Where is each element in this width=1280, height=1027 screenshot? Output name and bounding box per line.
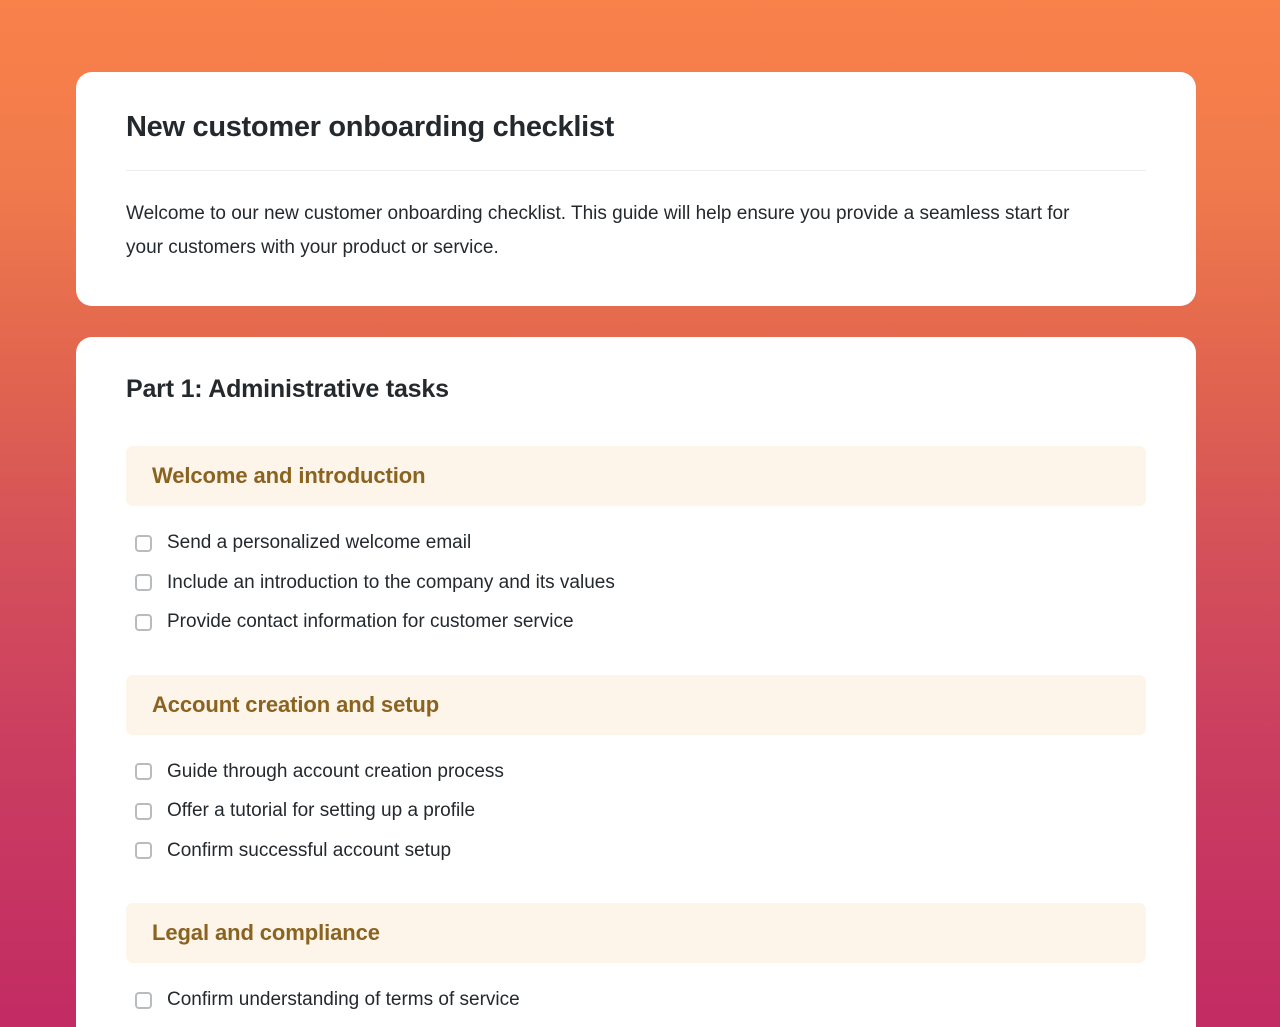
checklist-section-welcome-and-introduction: Welcome and introduction Send a personal… bbox=[126, 446, 1146, 643]
task-item[interactable]: Send a personalized welcome email bbox=[126, 524, 1146, 564]
checklist-section-legal-and-compliance: Legal and compliance Confirm understandi… bbox=[126, 903, 1146, 1021]
checklist-card: Part 1: Administrative tasks Welcome and… bbox=[76, 337, 1196, 1027]
task-label: Send a personalized welcome email bbox=[167, 529, 471, 558]
checklist-section-account-creation-and-setup: Account creation and setup Guide through… bbox=[126, 675, 1146, 872]
section-title: Welcome and introduction bbox=[152, 463, 425, 488]
checkbox-icon[interactable] bbox=[135, 842, 152, 859]
section-header-band: Welcome and introduction bbox=[126, 446, 1146, 506]
section-header-band: Account creation and setup bbox=[126, 675, 1146, 735]
page-title: New customer onboarding checklist bbox=[126, 110, 1146, 145]
checkbox-icon[interactable] bbox=[135, 614, 152, 631]
part-title: Part 1: Administrative tasks bbox=[126, 375, 1146, 404]
task-list: Guide through account creation process O… bbox=[126, 735, 1146, 872]
task-item[interactable]: Confirm successful account setup bbox=[126, 832, 1146, 872]
task-item[interactable]: Provide contact information for customer… bbox=[126, 603, 1146, 643]
checkbox-icon[interactable] bbox=[135, 574, 152, 591]
checkbox-icon[interactable] bbox=[135, 763, 152, 780]
checkbox-icon[interactable] bbox=[135, 535, 152, 552]
intro-paragraph: Welcome to our new customer onboarding c… bbox=[126, 197, 1086, 266]
task-label: Guide through account creation process bbox=[167, 758, 504, 787]
task-label: Provide contact information for customer… bbox=[167, 608, 574, 637]
document-page: New customer onboarding checklist Welcom… bbox=[0, 0, 1280, 1027]
checkbox-icon[interactable] bbox=[135, 803, 152, 820]
task-item[interactable]: Confirm understanding of terms of servic… bbox=[126, 981, 1146, 1021]
task-item[interactable]: Guide through account creation process bbox=[126, 753, 1146, 793]
task-label: Confirm successful account setup bbox=[167, 837, 451, 866]
title-divider bbox=[126, 170, 1146, 171]
task-label: Offer a tutorial for setting up a profil… bbox=[167, 797, 475, 826]
task-label: Include an introduction to the company a… bbox=[167, 569, 615, 598]
intro-card: New customer onboarding checklist Welcom… bbox=[76, 72, 1196, 306]
section-title: Account creation and setup bbox=[152, 692, 439, 717]
task-label: Confirm understanding of terms of servic… bbox=[167, 986, 520, 1015]
task-list: Send a personalized welcome email Includ… bbox=[126, 506, 1146, 643]
task-list: Confirm understanding of terms of servic… bbox=[126, 963, 1146, 1021]
checkbox-icon[interactable] bbox=[135, 992, 152, 1009]
section-title: Legal and compliance bbox=[152, 920, 380, 945]
task-item[interactable]: Include an introduction to the company a… bbox=[126, 564, 1146, 604]
task-item[interactable]: Offer a tutorial for setting up a profil… bbox=[126, 792, 1146, 832]
section-header-band: Legal and compliance bbox=[126, 903, 1146, 963]
